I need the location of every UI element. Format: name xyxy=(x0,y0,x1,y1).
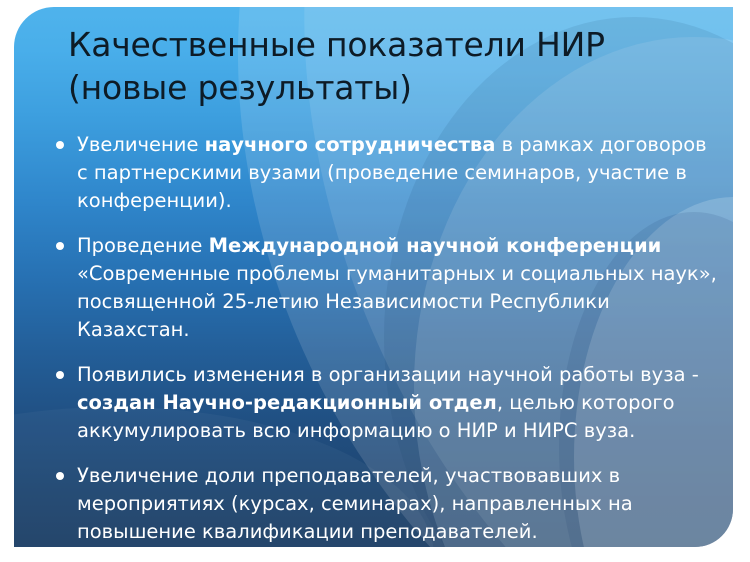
list-item: Увеличение научного сотрудничества в рам… xyxy=(30,131,720,215)
list-item-text: Увеличение доли преподавателей, участвов… xyxy=(77,462,720,546)
list-item-text: Появились изменения в организации научно… xyxy=(77,361,720,445)
slide-frame: Качественные показатели НИР (новые резул… xyxy=(0,0,750,562)
slide-body: Увеличение научного сотрудничества в рам… xyxy=(30,131,720,546)
bullet-dot-icon xyxy=(56,371,64,379)
list-item-text: Проведение Международной научной конфере… xyxy=(77,232,720,344)
slide-title-line-2: (новые результаты) xyxy=(68,66,708,109)
presentation-slide: Качественные показатели НИР (новые резул… xyxy=(14,7,733,547)
slide-title-line-1: Качественные показатели НИР xyxy=(68,23,708,66)
list-item: Появились изменения в организации научно… xyxy=(30,361,720,445)
list-item: Проведение Международной научной конфере… xyxy=(30,232,720,344)
list-item-text: Увеличение научного сотрудничества в рам… xyxy=(77,131,720,215)
bullet-dot-icon xyxy=(56,242,64,250)
slide-title: Качественные показатели НИР (новые резул… xyxy=(68,23,708,109)
bullet-dot-icon xyxy=(56,472,64,480)
list-item: Увеличение доли преподавателей, участвов… xyxy=(30,462,720,546)
bullet-dot-icon xyxy=(56,141,64,149)
